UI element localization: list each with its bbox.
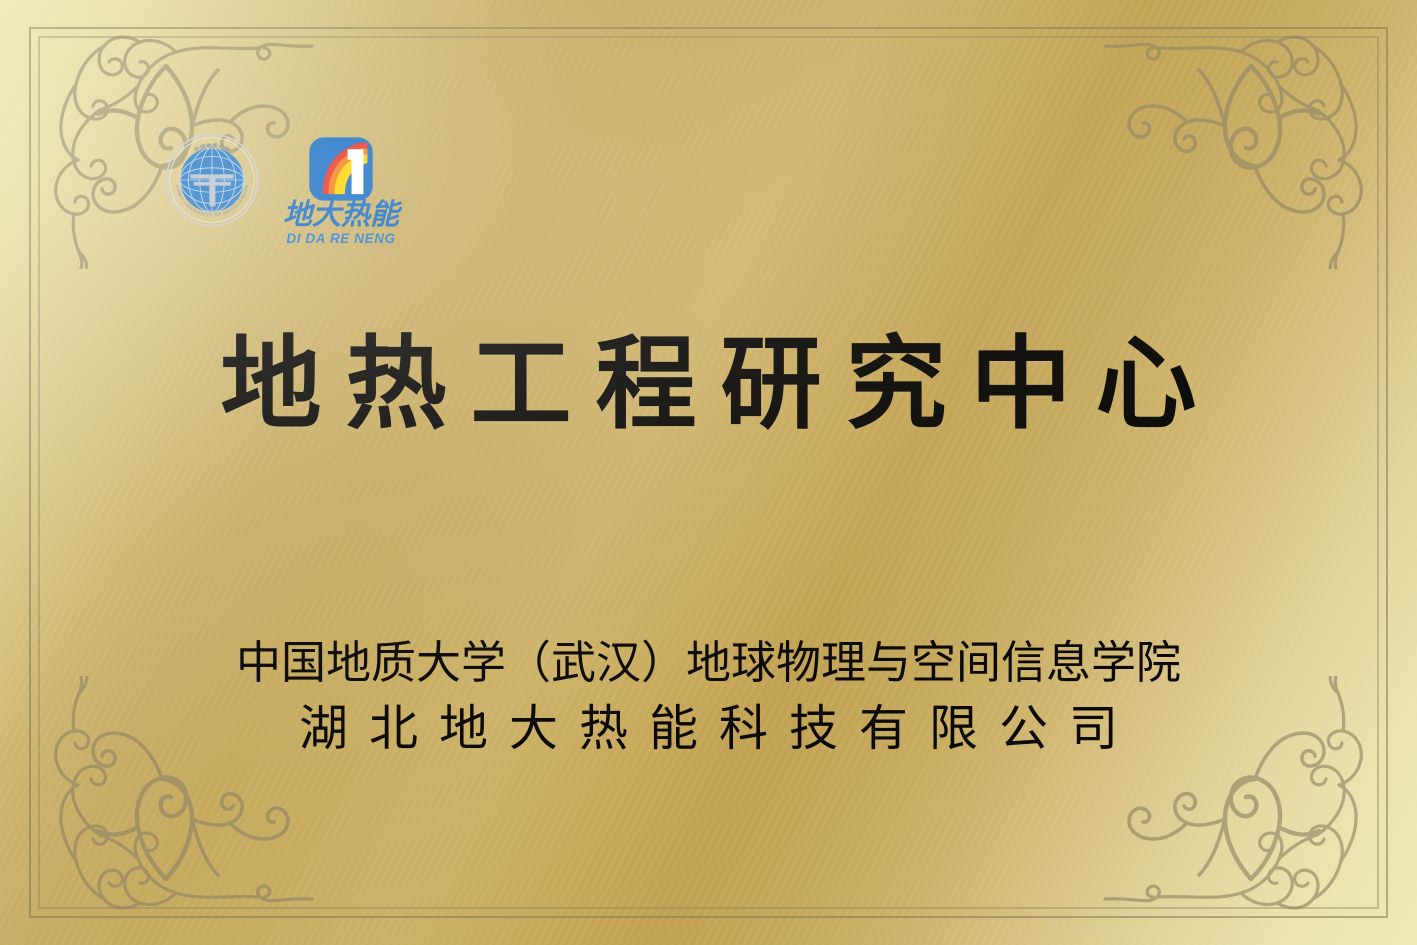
organization-block: 中国地质大学（武汉）地球物理与空间信息学院 湖北地大热能科技有限公司 bbox=[0, 636, 1417, 761]
award-plaque: 中国地质大学 CHINA UNIVERSITY OF GEOSCIENCES 1… bbox=[0, 0, 1417, 945]
logo-row: 中国地质大学 CHINA UNIVERSITY OF GEOSCIENCES 1… bbox=[165, 133, 399, 246]
cug-logo-year: 1952 bbox=[207, 208, 217, 213]
didareneng-chinese-label: 地大热能 bbox=[283, 200, 399, 229]
didareneng-mark-icon bbox=[308, 136, 374, 202]
didareneng-pinyin-label: DI DA RE NENG bbox=[286, 232, 395, 246]
cug-university-logo: 中国地质大学 CHINA UNIVERSITY OF GEOSCIENCES 1… bbox=[165, 133, 259, 227]
organization-line-2: 湖北地大热能科技有限公司 bbox=[0, 697, 1417, 761]
didareneng-company-logo: 地大热能 DI DA RE NENG bbox=[283, 133, 399, 246]
plaque-title: 地热工程研究中心 bbox=[0, 330, 1417, 439]
corner-flourish-top-right-icon bbox=[1101, 14, 1401, 269]
organization-line-1: 中国地质大学（武汉）地球物理与空间信息学院 bbox=[0, 636, 1417, 691]
